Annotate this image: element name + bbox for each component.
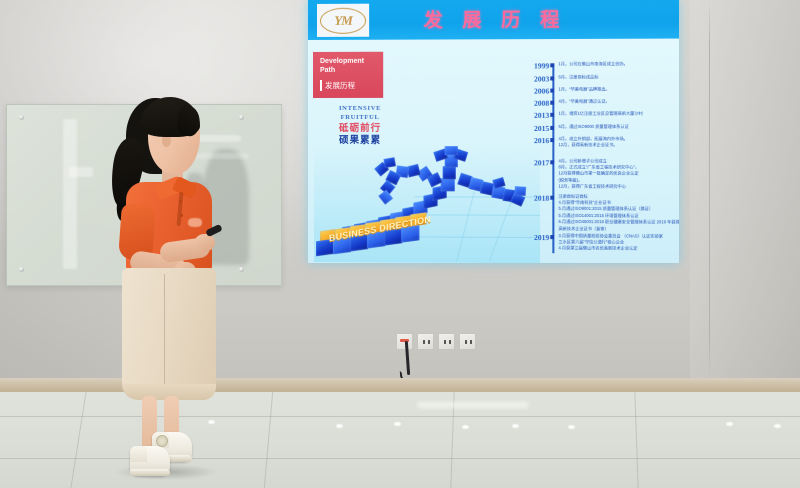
timeline-year: 2015 xyxy=(522,124,550,133)
timeline-entry-text: 注册商标证商标 4.月获得“华南科技”企业证书 5.月通过ISO9001:201… xyxy=(558,193,679,233)
socket-hole xyxy=(423,340,425,344)
timeline-year: 2008 xyxy=(522,99,550,108)
ceiling-light-reflection xyxy=(336,424,343,428)
socket-hole xyxy=(449,340,451,344)
timeline-entry-text: 4月，公司新增子公司成立 8月，正式成立“广东省工程技术研究中心”， 12月获得… xyxy=(558,158,679,191)
wall-seam-line xyxy=(709,0,710,378)
timeline-entry-text: 4月，成立外销部，拓展海内外市场。 12月，获得高新技术企业证书。 xyxy=(558,136,679,149)
whiteboard-reflection xyxy=(63,119,77,269)
arrow-branch-head xyxy=(383,157,395,168)
timeline-bullet xyxy=(550,160,554,164)
ceiling-light-reflection xyxy=(774,424,781,428)
shoe-sole xyxy=(130,469,170,476)
devbox-en-line1: Development xyxy=(320,58,376,67)
timeline-entry-text: 1月，“华美电器”品牌推出。 xyxy=(558,86,679,93)
photo-scene: YM 发 展 历 程 Development Path 发展历程 INTENSI… xyxy=(0,0,800,488)
floor-grout-line xyxy=(634,392,638,488)
shirt-button xyxy=(179,200,182,203)
ceiling-light-reflection xyxy=(512,424,519,428)
development-path-box: Development Path 发展历程 xyxy=(313,52,383,98)
baseboard-glare xyxy=(418,402,528,408)
timeline-year: 2003 xyxy=(522,74,550,83)
whiteboard-screw xyxy=(19,115,24,120)
whiteboard-reflection xyxy=(69,167,93,177)
socket-hole xyxy=(444,340,446,344)
timeline-bullet xyxy=(550,88,554,92)
ceiling-light-reflection xyxy=(462,425,469,429)
timeline-bullet xyxy=(550,76,554,80)
ceiling-light-reflection xyxy=(568,425,575,429)
timeline-year: 2013 xyxy=(522,111,550,120)
timeline-entry-text: 4月，“华美电器”通过认证。 xyxy=(558,98,679,105)
arrow-block xyxy=(443,166,456,179)
timeline-bullet xyxy=(550,63,554,67)
timeline-bullet xyxy=(550,100,554,104)
timeline-year: 2020 xyxy=(522,262,550,263)
shoe-tongue xyxy=(130,446,147,462)
timeline-entry: 20193.月获得中国质量检验协会委员会 （CNAS）认证实验室 三水区第六届“… xyxy=(522,233,679,234)
timeline-entry-text: 6月，通过ISO9000 质量管理体系认证 xyxy=(558,123,679,130)
presenter xyxy=(100,96,230,488)
power-socket-plate[interactable] xyxy=(438,333,455,350)
ceiling-light-reflection xyxy=(726,422,733,426)
timeline-year: 2019 xyxy=(522,233,550,242)
timeline-entry-text: 3.月获得中国质量检验协会委员会 （CNAS）认证实验室 三水区第六届“守信公道… xyxy=(558,233,679,253)
timeline-bullet xyxy=(550,235,554,239)
timeline-year: 2017 xyxy=(522,158,550,167)
socket-hole xyxy=(465,340,467,344)
devbox-en-line2: Path xyxy=(320,67,376,76)
arrow-head-block xyxy=(445,146,458,155)
timeline-year: 2016 xyxy=(522,136,550,145)
shoe-left xyxy=(130,446,170,476)
devbox-cn-label: 发展历程 xyxy=(320,79,376,90)
socket-hole xyxy=(428,340,430,344)
socket-hole xyxy=(470,340,472,344)
timeline-bullet xyxy=(550,112,554,116)
floor-grout-line xyxy=(264,392,273,488)
slide-header-bar: YM 发 展 历 程 xyxy=(308,0,679,40)
timeline-year: 1999 xyxy=(522,61,550,70)
shirt-embroidered-logo xyxy=(188,218,202,227)
timeline-bullet xyxy=(550,138,554,142)
shirt-button xyxy=(180,214,183,217)
development-timeline: 19991月，公司在佛山市南海区成立创办。20036月，注册商标成品标20061… xyxy=(522,61,679,259)
whiteboard-screw xyxy=(239,267,244,272)
whiteboard-screw xyxy=(19,267,24,272)
slide-body: Development Path 发展历程 INTENSIVE FRUITFUL… xyxy=(308,39,679,263)
ceiling-light-reflection xyxy=(394,422,401,426)
timeline-year: 2018 xyxy=(522,194,550,203)
hand-right xyxy=(195,234,215,251)
timeline-bullet xyxy=(550,125,554,129)
skirt xyxy=(122,268,216,398)
projected-slide: YM 发 展 历 程 Development Path 发展历程 INTENSI… xyxy=(308,0,679,263)
slide-artwork-3d-arrow: BUSINESS DIRECTION xyxy=(314,144,540,263)
floor-grout-line xyxy=(70,392,86,488)
whiteboard-screw xyxy=(239,115,244,120)
timeline-bullet xyxy=(550,195,554,199)
timeline-entry-text: 1月，公司在佛山市南海区成立创办。 xyxy=(558,60,679,67)
timeline-entry: 2020(1) 开立佛山市AAA级诚信企业公示牌 (2) 佛山质量奖“三水评选会… xyxy=(522,262,679,263)
timeline-entry-text: 6月，注册商标成品标 xyxy=(558,74,679,81)
power-socket-plate[interactable] xyxy=(417,333,434,350)
arrow-block xyxy=(441,178,455,191)
timeline-entry-text: (1) 开立佛山市AAA级诚信企业公示牌 (2) 佛山质量奖“三水评选会”授予证… xyxy=(558,262,679,263)
power-socket-plate[interactable] xyxy=(459,333,476,350)
skirt-seam xyxy=(164,274,165,390)
timeline-year: 2006 xyxy=(522,87,550,96)
wall-shading-right xyxy=(690,0,800,400)
slide-title: 发 展 历 程 xyxy=(308,4,679,33)
timeline-entry-text: 1月，增资1亿注册工业区总管理高新大厦沙村 xyxy=(558,110,679,117)
